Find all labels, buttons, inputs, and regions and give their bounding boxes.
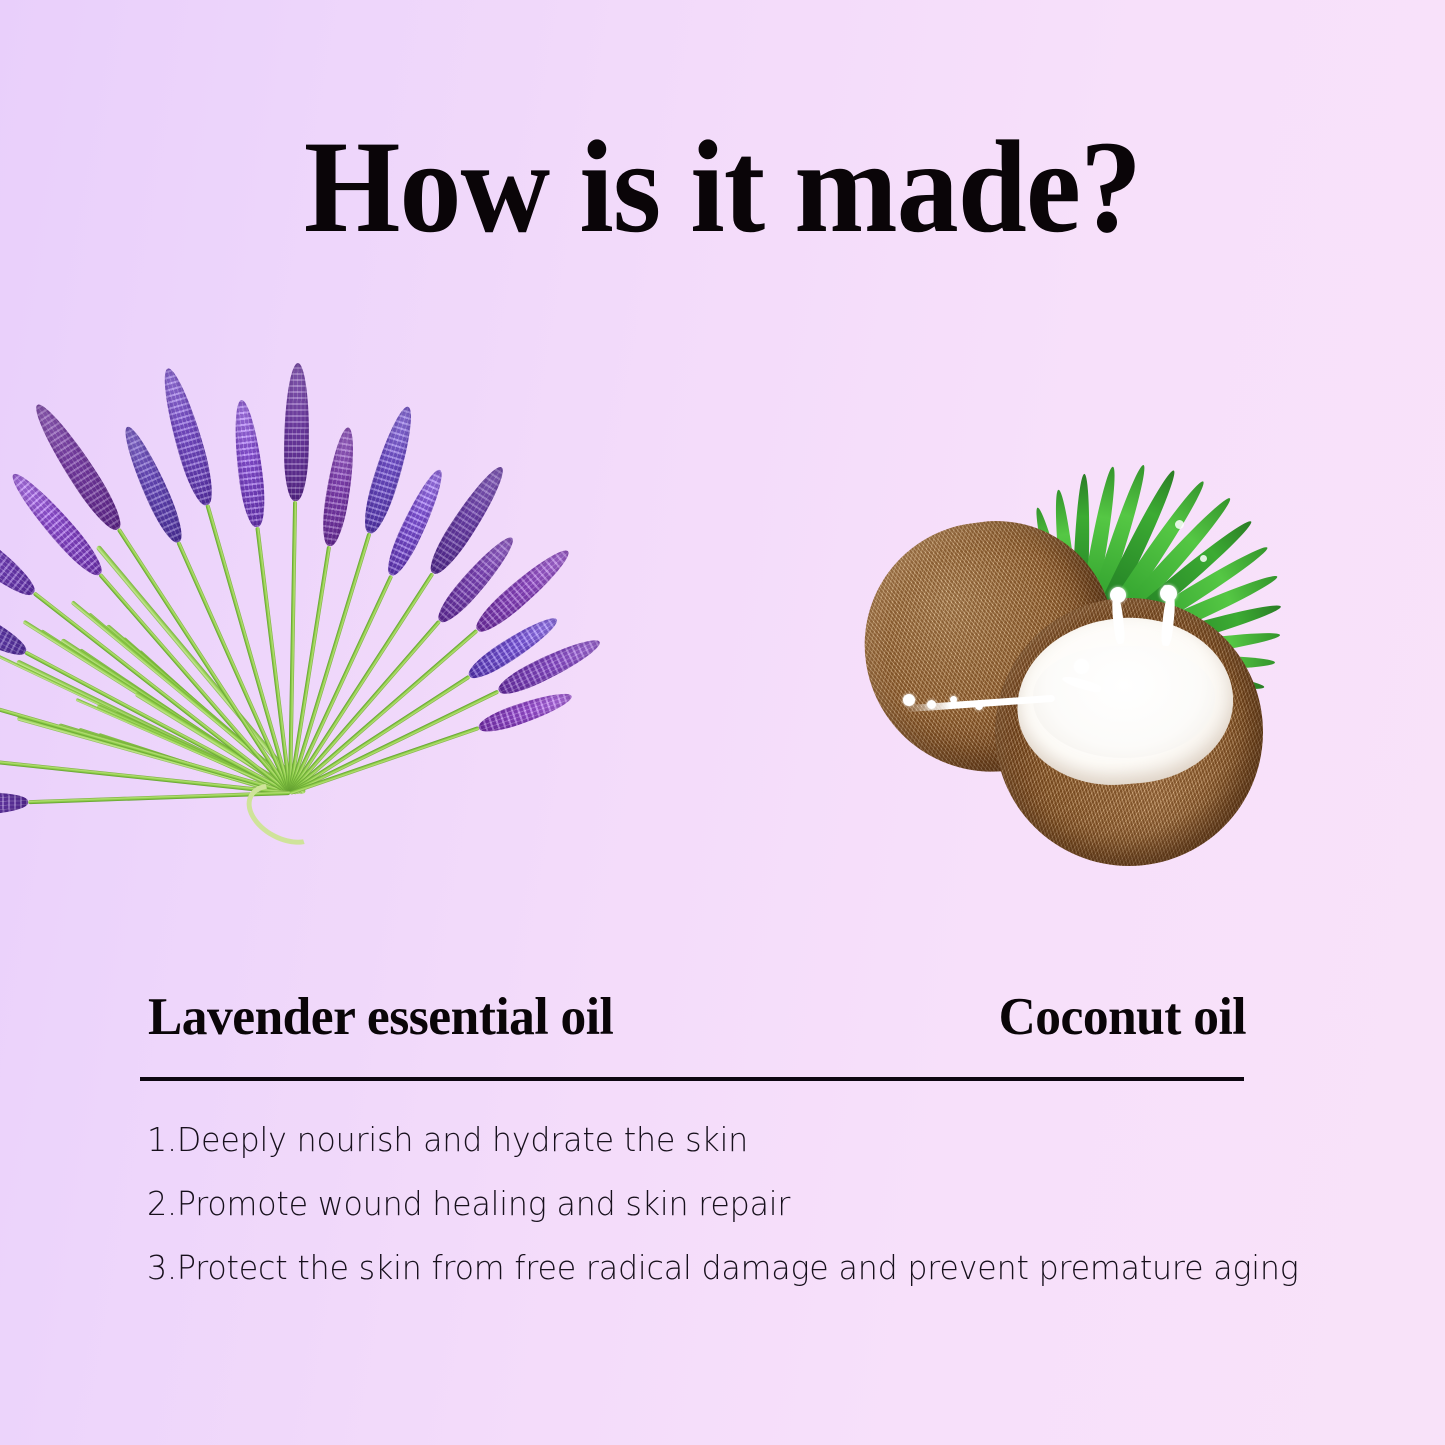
ingredient-label-coconut: Coconut oil xyxy=(999,985,1246,1049)
benefit-item: 1.Deeply nourish and hydrate the skin xyxy=(147,1108,1299,1172)
benefit-item: 2.Promote wound healing and skin repair xyxy=(147,1172,1299,1236)
lavender-flower-spike xyxy=(283,363,310,501)
milk-droplet xyxy=(950,696,957,703)
milk-droplet xyxy=(975,702,983,710)
coconut-image xyxy=(845,450,1315,900)
section-divider xyxy=(140,1077,1244,1081)
milk-droplet xyxy=(1110,587,1126,603)
lavender-flower-spike xyxy=(0,791,29,817)
water-droplet xyxy=(1200,555,1207,562)
water-droplet xyxy=(1175,520,1184,529)
milk-droplet xyxy=(927,700,936,709)
milk-droplet xyxy=(1160,585,1177,602)
benefit-item: 3.Protect the skin from free radical dam… xyxy=(147,1236,1299,1300)
lavender-flower-spike xyxy=(230,398,269,528)
coconut-milk-splash xyxy=(1033,646,1215,758)
product-infographic: How is it made? Lavender essential oil C… xyxy=(0,0,1445,1445)
benefit-list: 1.Deeply nourish and hydrate the skin 2.… xyxy=(147,1108,1347,1300)
ingredient-label-lavender: Lavender essential oil xyxy=(148,985,613,1049)
ingredient-labels: Lavender essential oil Coconut oil xyxy=(140,985,1246,1055)
lavender-flower-spike xyxy=(318,426,359,548)
lavender-bouquet-image xyxy=(150,325,670,965)
milk-droplet xyxy=(1074,659,1089,674)
page-title: How is it made? xyxy=(43,118,1401,257)
milk-droplet xyxy=(903,694,915,706)
